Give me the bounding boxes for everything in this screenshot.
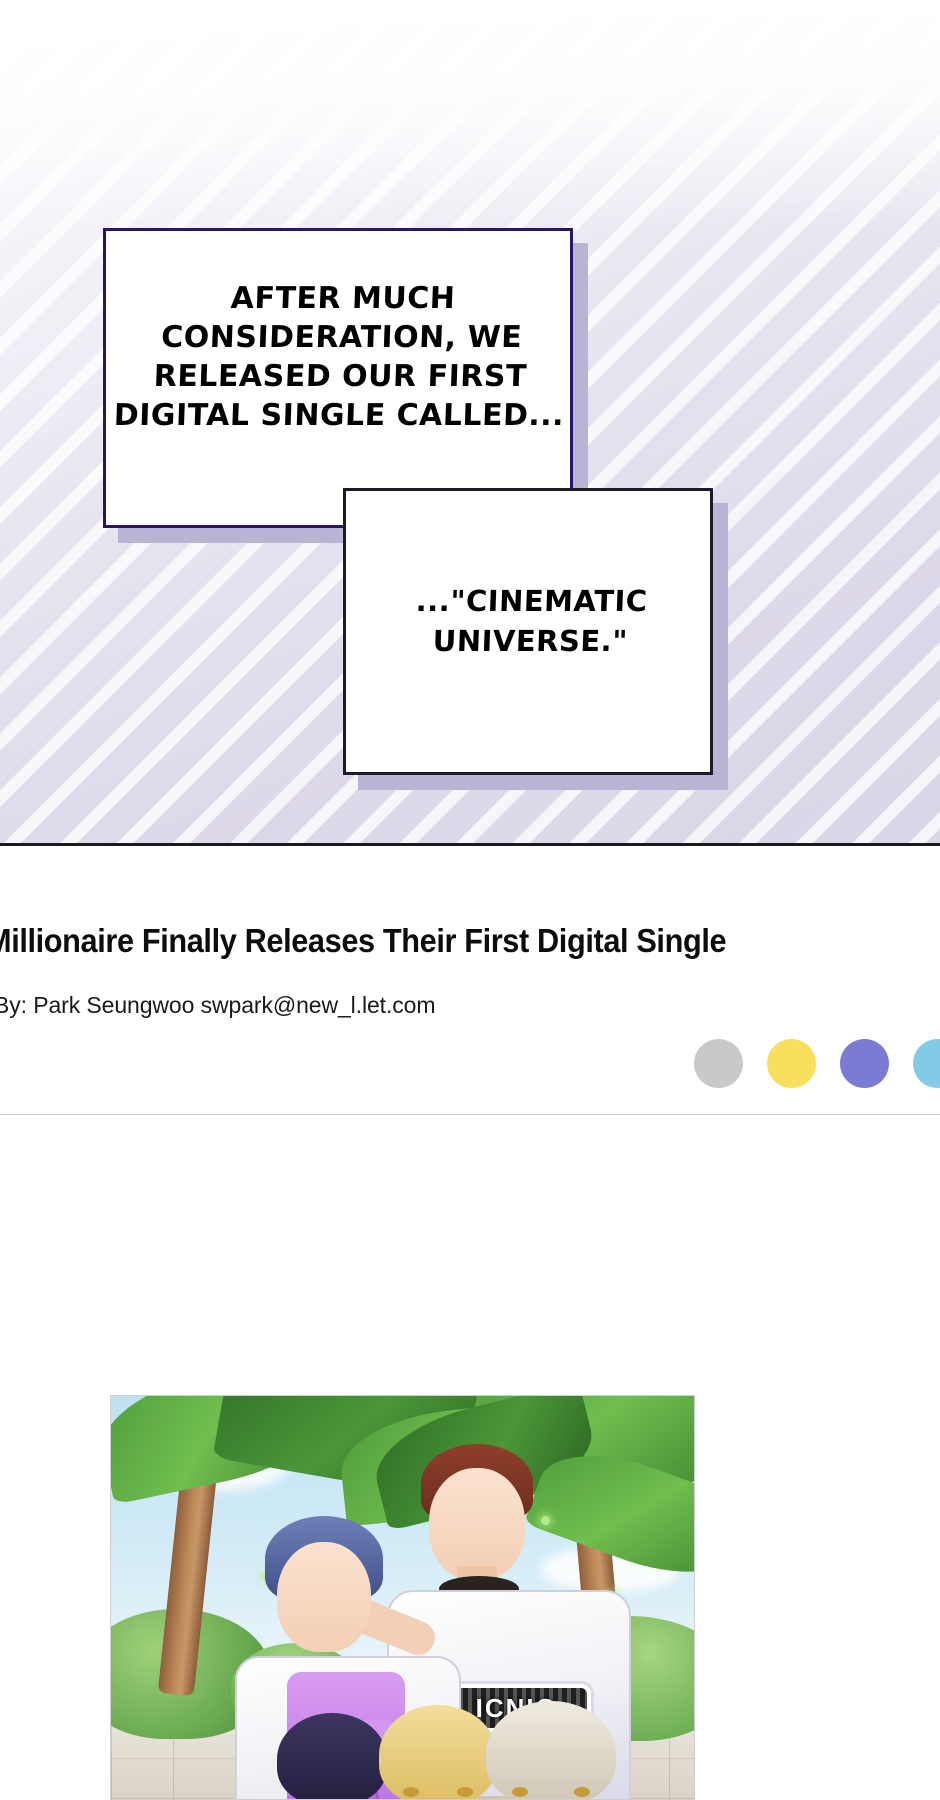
speech-bubble-2: ..."CINEMATIC UNIVERSE." [343, 488, 713, 775]
face [277, 1542, 371, 1652]
speech-bubble-1: AFTER MUCH CONSIDERATION, WE RELEASED OU… [103, 228, 573, 528]
character-front-white-hair [486, 1701, 616, 1799]
section-divider [0, 1114, 940, 1115]
episode-info-section: Millionaire Finally Releases Their First… [0, 846, 940, 1268]
thumbnail-artwork: ICNIC [111, 1396, 694, 1799]
rating-dot-purple[interactable] [840, 1039, 889, 1088]
episode-thumbnail[interactable]: ICNIC [110, 1395, 695, 1800]
speech-bubble-2-text: ..."CINEMATIC UNIVERSE." [345, 581, 718, 661]
webtoon-reader-page: AFTER MUCH CONSIDERATION, WE RELEASED OU… [0, 0, 940, 1800]
episode-author: By: Park Seungwoo swpark@new_l.let.com [0, 992, 435, 1019]
character-front-dark-hair [277, 1713, 387, 1799]
episode-title: Millionaire Finally Releases Their First… [0, 921, 886, 961]
rating-dots[interactable] [694, 1039, 940, 1088]
eye-right [457, 1787, 473, 1797]
eye-right [574, 1787, 590, 1797]
character-front-blond [379, 1705, 497, 1799]
eye-left [403, 1787, 419, 1797]
webtoon-panel: AFTER MUCH CONSIDERATION, WE RELEASED OU… [0, 0, 940, 846]
eye-left [512, 1787, 528, 1797]
panel-top-fade [0, 0, 940, 230]
rating-dot-yellow[interactable] [767, 1039, 816, 1088]
rating-dot-gray[interactable] [694, 1039, 743, 1088]
speech-bubble-1-text: AFTER MUCH CONSIDERATION, WE RELEASED OU… [103, 279, 578, 435]
rating-dot-blue[interactable] [913, 1039, 940, 1088]
